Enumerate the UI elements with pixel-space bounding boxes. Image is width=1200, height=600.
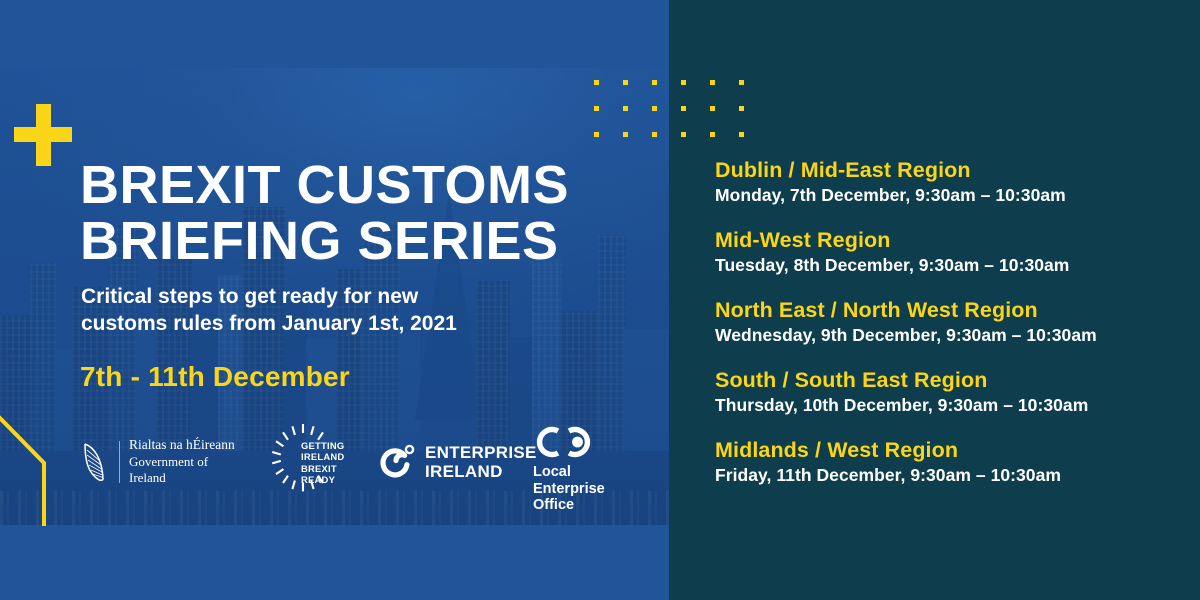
- event-item: South / South East Region Thursday, 10th…: [715, 368, 1185, 417]
- logo-enterprise-ireland: ENTERPRISE IRELAND: [378, 422, 528, 502]
- gov-label-english: Government of Ireland: [129, 454, 243, 487]
- logo-government-of-ireland: Rialtas na hÉireann Government of Irelan…: [78, 422, 243, 502]
- ei-line1: ENTERPRISE: [425, 443, 537, 462]
- event-item: North East / North West Region Wednesday…: [715, 298, 1185, 347]
- government-of-ireland-text: Rialtas na hÉireann Government of Irelan…: [129, 437, 243, 486]
- dot-grid-icon: [594, 80, 746, 144]
- page-subtitle-line1: Critical steps to get ready for new: [81, 285, 418, 308]
- harp-icon: [78, 439, 110, 485]
- page-title: BREXIT CUSTOMS BRIEFING SERIES: [80, 157, 660, 269]
- logo-divider: [119, 441, 120, 483]
- event-datetime: Friday, 11th December, 9:30am – 10:30am: [715, 463, 1185, 487]
- logo-row: Rialtas na hÉireann Government of Irelan…: [78, 422, 623, 502]
- event-item: Dublin / Mid-East Region Monday, 7th Dec…: [715, 158, 1185, 207]
- page-subtitle: Critical steps to get ready for new cust…: [81, 283, 551, 337]
- leo-line3: Office: [533, 497, 605, 514]
- page-title-line2: BRIEFING SERIES: [80, 213, 660, 269]
- event-item: Midlands / West Region Friday, 11th Dece…: [715, 438, 1185, 487]
- page-title-line1: BREXIT CUSTOMS: [80, 155, 569, 215]
- local-enterprise-office-text: Local Enterprise Office: [533, 464, 605, 514]
- event-datetime: Tuesday, 8th December, 9:30am – 10:30am: [715, 253, 1185, 277]
- logo-local-enterprise-office: Local Enterprise Office: [533, 422, 625, 502]
- event-item: Mid-West Region Tuesday, 8th December, 9…: [715, 228, 1185, 277]
- date-range: 7th - 11th December: [80, 361, 350, 393]
- enterprise-ireland-spiral-icon: [378, 440, 416, 485]
- logo-getting-ireland-brexit-ready: GETTING IRELAND BREXIT READY: [263, 422, 375, 502]
- gibr-line3: BREXIT: [301, 463, 363, 474]
- event-datetime: Monday, 7th December, 9:30am – 10:30am: [715, 183, 1185, 207]
- gibr-line1: GETTING: [301, 440, 363, 451]
- gibr-line4: READY: [301, 474, 363, 485]
- leo-line1: Local: [533, 464, 605, 481]
- enterprise-ireland-text: ENTERPRISE IRELAND: [425, 443, 537, 481]
- event-region: Midlands / West Region: [715, 438, 1185, 463]
- ei-line2: IRELAND: [425, 462, 537, 481]
- event-list: Dublin / Mid-East Region Monday, 7th Dec…: [715, 158, 1185, 487]
- event-datetime: Wednesday, 9th December, 9:30am – 10:30a…: [715, 323, 1185, 347]
- plus-icon: [14, 104, 72, 166]
- event-region: Dublin / Mid-East Region: [715, 158, 1185, 183]
- sunburst-icon: [263, 489, 375, 506]
- event-region: South / South East Region: [715, 368, 1185, 393]
- page-subtitle-line2: customs rules from January 1st, 2021: [81, 310, 551, 337]
- event-datetime: Thursday, 10th December, 9:30am – 10:30a…: [715, 393, 1185, 417]
- event-region: Mid-West Region: [715, 228, 1185, 253]
- getting-ireland-brexit-ready-text: GETTING IRELAND BREXIT READY: [301, 440, 363, 486]
- banner-stage: BREXIT CUSTOMS BRIEFING SERIES Critical …: [0, 0, 1200, 600]
- gov-label-irish: Rialtas na hÉireann: [129, 437, 243, 454]
- corner-line-icon: [0, 400, 70, 600]
- gibr-line2: IRELAND: [301, 451, 363, 462]
- event-region: North East / North West Region: [715, 298, 1185, 323]
- leo-line2: Enterprise: [533, 481, 605, 498]
